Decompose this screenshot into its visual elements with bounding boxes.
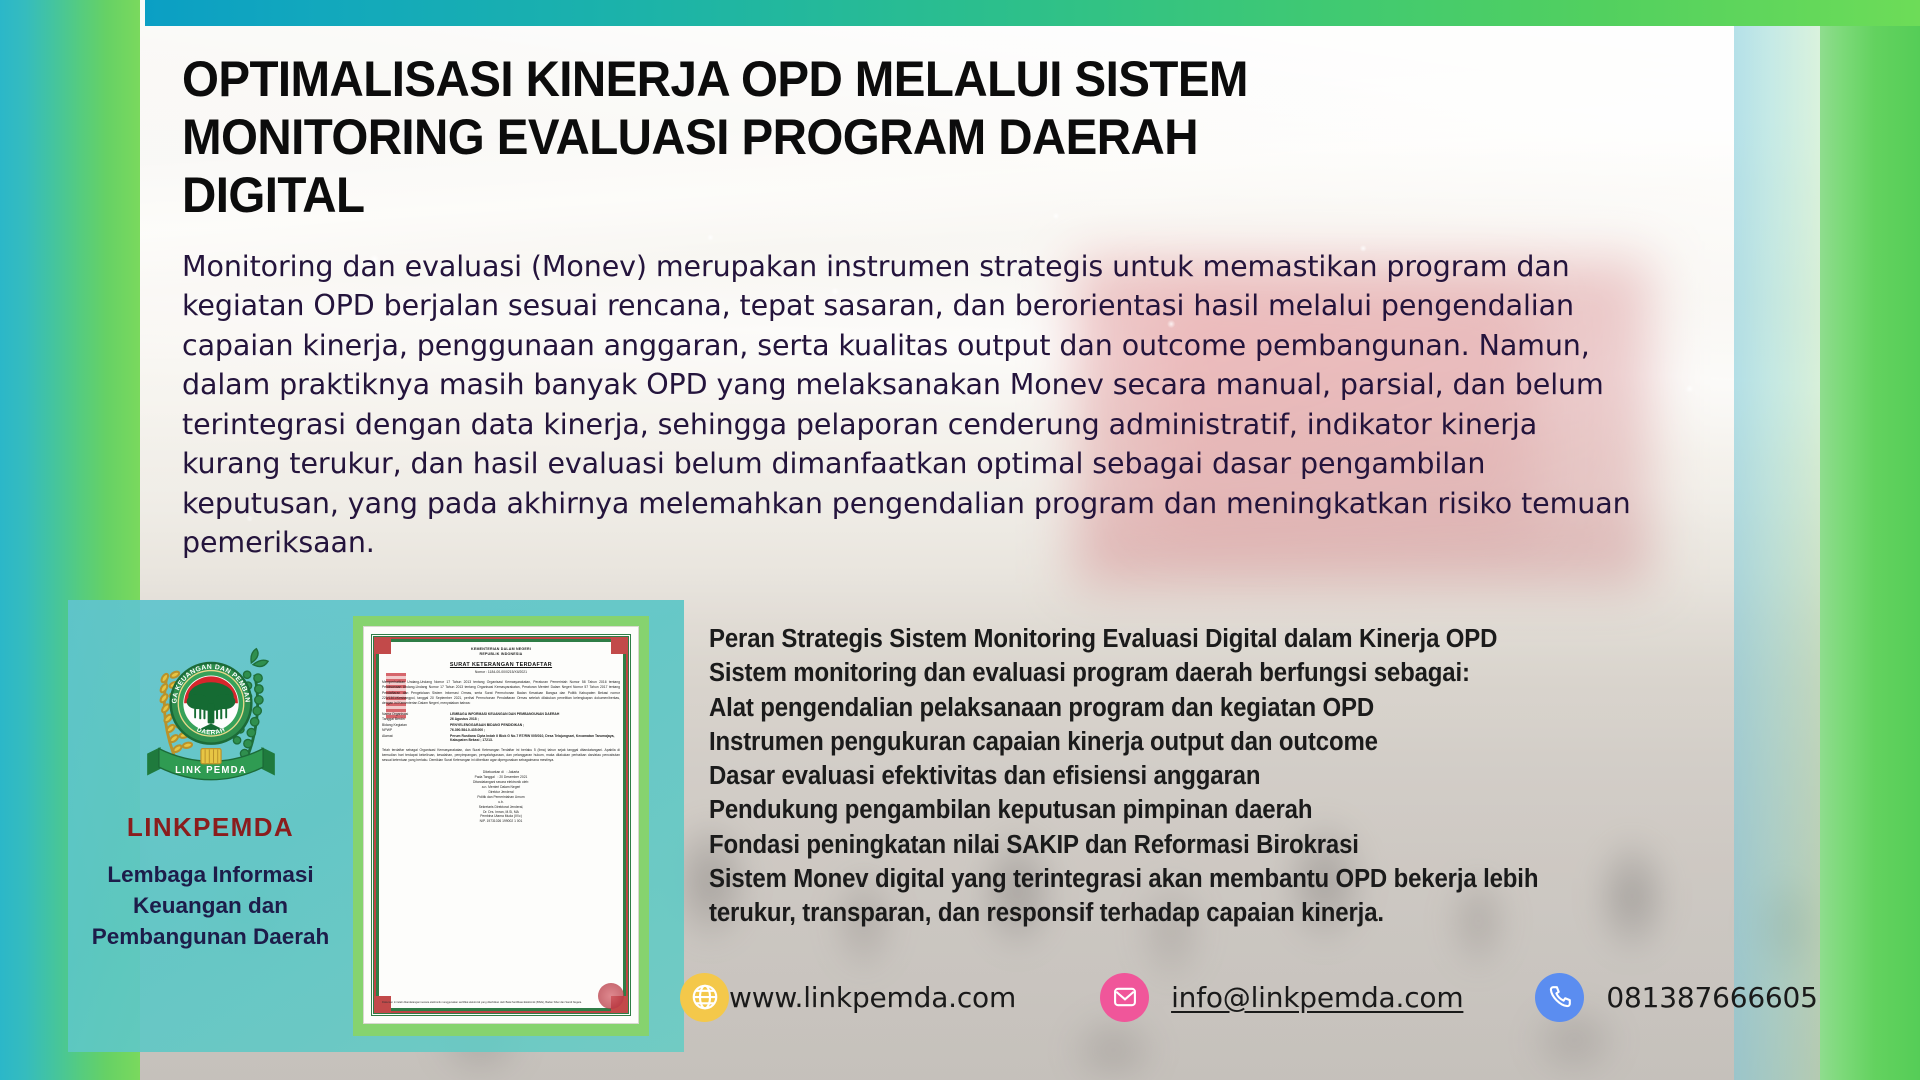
brand-subtitle: Lembaga Informasi Keuangan dan Pembangun… (92, 859, 330, 952)
phone-icon (1535, 973, 1584, 1022)
envelope-icon (1100, 973, 1149, 1022)
certificate-paragraph: Memperhatikan Undang-Undang Nomor 17 Tah… (382, 680, 620, 705)
certificate-fields: Nama Organisasi LEMBAGA INFORMASI KEUANG… (382, 712, 620, 742)
page-title: OPTIMALISASI KINERJA OPD MELALUI SISTEM … (182, 50, 1256, 224)
certificate-field-value: 76.390.584.0-435.000 ; (450, 728, 620, 732)
certificate-number: Nomor : 1184-00-00/0215/XII/2021 (382, 670, 620, 674)
key-point-item-1: Alat pengendalian pelaksanaan program da… (709, 691, 1536, 725)
headline-line-3: DIGITAL (182, 166, 1256, 224)
certificate-place-value: : Jakarta (506, 770, 519, 774)
certificate-field-value: LEMBAGA INFORMASI KEUANGAN DAN PEMBANGUN… (450, 712, 620, 716)
certificate-seal (598, 983, 624, 1009)
contact-footer: www.linkpemda.com info@linkpemda.com 081… (680, 962, 1870, 1032)
phone-number[interactable]: 081387666605 (1606, 981, 1817, 1014)
contact-phone[interactable]: 081387666605 (1535, 973, 1817, 1022)
contact-email[interactable]: info@linkpemda.com (1100, 973, 1463, 1022)
key-points-block: Peran Strategis Sistem Monitoring Evalua… (709, 622, 1536, 931)
brand-subtitle-line-3: Pembangunan Daerah (92, 921, 330, 952)
certificate-field-key: NPWP (382, 728, 446, 732)
certificate-field-key: Bidang Kegiatan (382, 723, 446, 727)
globe-icon (680, 973, 729, 1022)
certificate-signature-block: Dikeluarkan di : Jakarta Pada Tanggal : … (382, 770, 620, 824)
website-url[interactable]: www.linkpemda.com (729, 981, 1016, 1014)
certificate-footnote: Dokumen ini telah ditandatangani secara … (382, 1001, 620, 1005)
brand-subtitle-line-2: Keuangan dan (92, 890, 330, 921)
headline-line-2: MONITORING EVALUASI PROGRAM DAERAH (182, 108, 1256, 166)
certificate-date-label: Pada Tanggal (475, 775, 495, 779)
certificate-field-key: Tanggal Berdiri (382, 717, 446, 721)
key-point-item-2: Instrumen pengukuran capaian kinerja out… (709, 725, 1536, 759)
link-pemda-emblem: LEMBAGA KEUANGAN DAN PEMBANGUNAN DAERAH … (127, 626, 295, 794)
certificate-field-key: Nama Organisasi (382, 712, 446, 716)
certificate-title: SURAT KETERANGAN TERDAFTAR (382, 662, 620, 668)
headline-line-1: OPTIMALISASI KINERJA OPD MELALUI SISTEM (182, 50, 1256, 108)
key-point-item-4: Pendukung pengambilan keputusan pimpinan… (709, 793, 1536, 827)
certificate-field-value: PENYELENGGARAAN BIDANG PENDIDIKAN ; (450, 723, 620, 727)
key-point-lead: Sistem monitoring dan evaluasi program d… (709, 656, 1536, 690)
certificate-body: KEMENTERIAN DALAM NEGERI REPUBLIK INDONE… (382, 647, 620, 1005)
email-address[interactable]: info@linkpemda.com (1171, 981, 1463, 1014)
certificate-frame: KEMENTERIAN DALAM NEGERI REPUBLIK INDONE… (353, 616, 649, 1036)
certificate-field-key: Alamat (382, 734, 446, 742)
key-point-closing-2: terukur, transparan, dan responsif terha… (709, 896, 1536, 930)
certificate-field-value: Perum Rustiana Cipta Indah II Blok G No.… (450, 734, 620, 742)
key-point-item-3: Dasar evaluasi efektivitas dan efisiensi… (709, 759, 1536, 793)
certificate-field-value: 26 Agustus 2018 ; (450, 717, 620, 721)
poster-content: OPTIMALISASI KINERJA OPD MELALUI SISTEM … (0, 0, 1920, 1080)
certificate-place-label: Dikeluarkan di (483, 770, 504, 774)
brand-card: LEMBAGA KEUANGAN DAN PEMBANGUNAN DAERAH … (68, 600, 684, 1052)
brand-identity: LEMBAGA KEUANGAN DAN PEMBANGUNAN DAERAH … (68, 600, 353, 1052)
brand-name: LINKPEMDA (127, 812, 294, 843)
key-point-heading: Peran Strategis Sistem Monitoring Evalua… (709, 622, 1536, 656)
key-point-closing-1: Sistem Monev digital yang terintegrasi a… (709, 862, 1536, 896)
contact-website[interactable]: www.linkpemda.com (680, 973, 1016, 1022)
certificate-date-value: : 20 Desember 2021 (497, 775, 527, 779)
certificate-closing: Telah terdaftar sebagai Organisasi Kemas… (382, 748, 620, 763)
certificate-kop-line-2: REPUBLIK INDONESIA (382, 652, 620, 657)
key-point-item-5: Fondasi peningkatan nilai SAKIP dan Refo… (709, 828, 1536, 862)
certificate-signer-nip: NIP. 19731026 199002 1 001 (382, 819, 620, 824)
intro-paragraph: Monitoring dan evaluasi (Monev) merupaka… (182, 247, 1637, 563)
emblem-ribbon-label: LINK PEMDA (175, 765, 247, 776)
brand-subtitle-line-1: Lembaga Informasi (92, 859, 330, 890)
certificate-document: KEMENTERIAN DALAM NEGERI REPUBLIK INDONE… (363, 626, 639, 1024)
